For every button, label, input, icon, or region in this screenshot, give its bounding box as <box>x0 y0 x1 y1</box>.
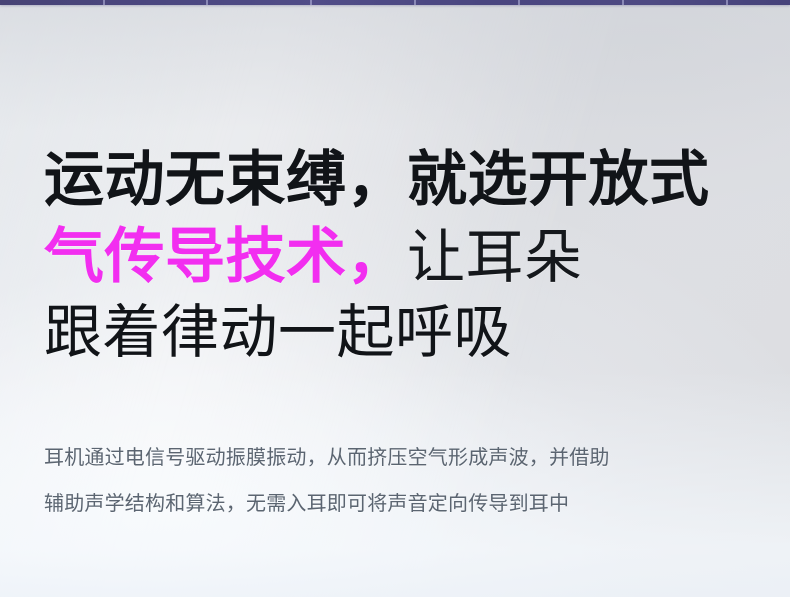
body-copy-block: 耳机通过电信号驱动振膜振动，从而挤压空气形成声波，并借助 辅助声学结构和算法，无… <box>44 448 744 514</box>
headline-block: 运动无束缚，就选开放式 气传导技术，让耳朵 跟着律动一起呼吸 <box>44 150 754 362</box>
strip-seam <box>622 0 624 5</box>
strip-seam <box>518 0 520 5</box>
product-banner: 运动无束缚，就选开放式 气传导技术，让耳朵 跟着律动一起呼吸 耳机通过电信号驱动… <box>0 0 790 597</box>
headline-line-1: 运动无束缚，就选开放式 <box>44 150 754 210</box>
body-paragraph-line-1: 耳机通过电信号驱动振膜振动，从而挤压空气形成声波，并借助 <box>44 448 744 468</box>
strip-seam <box>414 0 416 5</box>
headline-line-2: 气传导技术，让耳朵 <box>44 227 754 287</box>
headline-accent-text: 气传导技术， <box>44 223 407 290</box>
body-paragraph-line-2: 辅助声学结构和算法，无需入耳即可将声音定向传导到耳中 <box>44 494 744 514</box>
strip-seam <box>103 0 105 5</box>
strip-seam <box>310 0 312 5</box>
strip-seam <box>726 0 728 5</box>
headline-line-2-rest: 让耳朵 <box>407 225 583 290</box>
strip-seam <box>206 0 208 5</box>
headline-line-3: 跟着律动一起呼吸 <box>44 304 754 362</box>
top-accent-strip <box>0 0 790 5</box>
